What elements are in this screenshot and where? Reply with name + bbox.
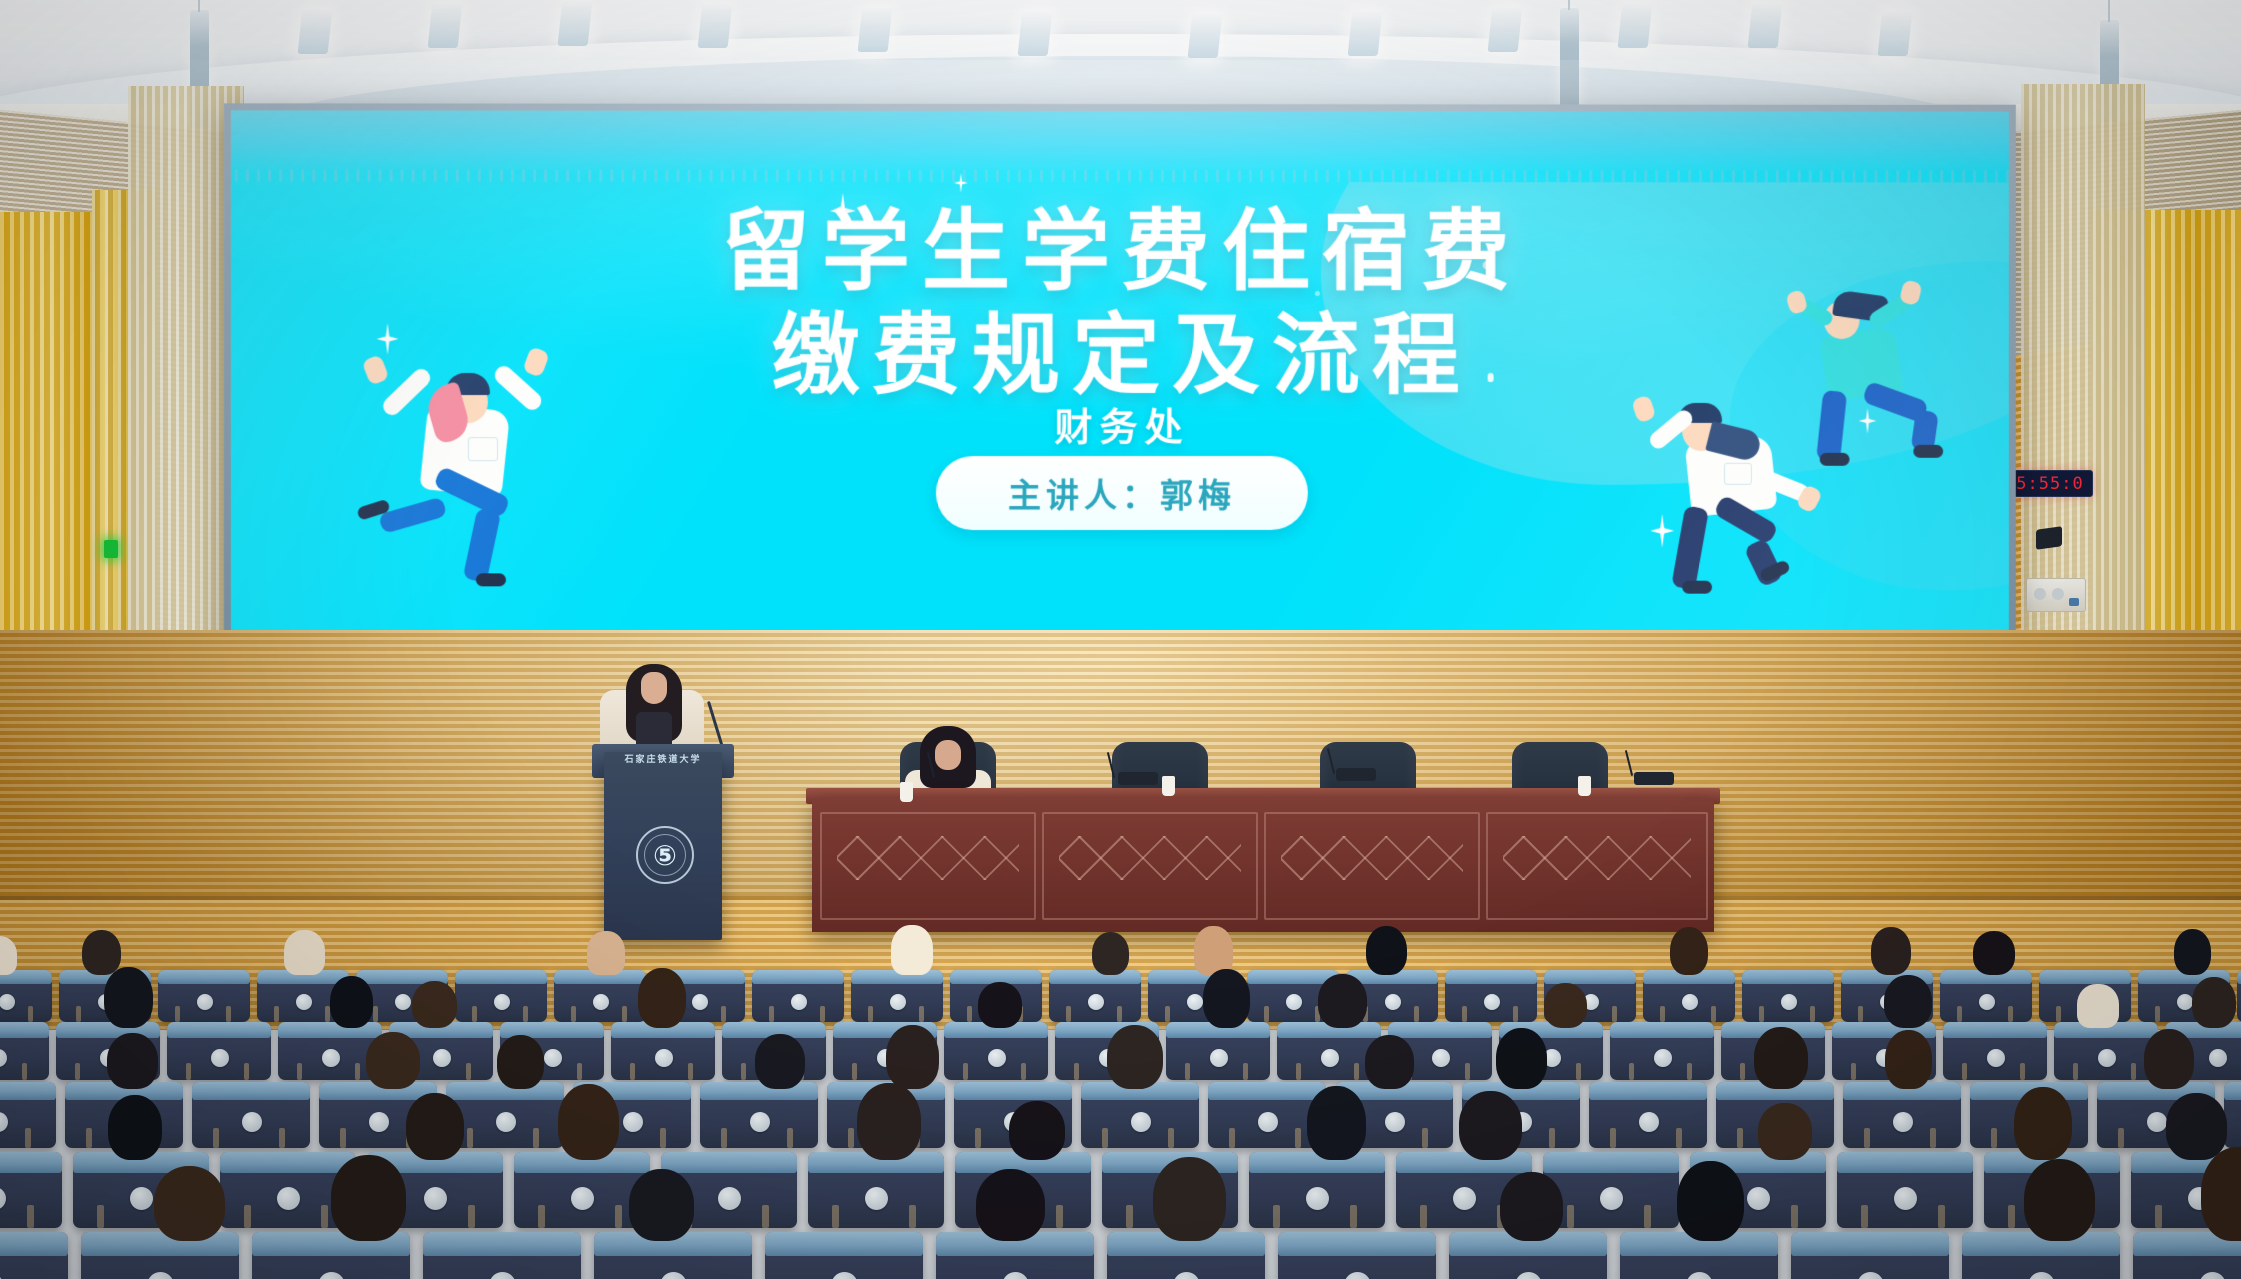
audience-member-head: [1107, 1025, 1163, 1089]
seat-number-medallion: [197, 994, 213, 1010]
audience-member-head: [2077, 984, 2119, 1028]
seat-armrest: [538, 1205, 545, 1228]
seat-armrest: [1273, 1205, 1280, 1228]
seat-headrail: [1837, 1152, 1973, 1173]
seat-number-medallion: [1258, 1112, 1278, 1132]
audience-seat: [0, 1022, 49, 1080]
seat-armrest: [468, 1205, 475, 1228]
audience-seat: [2054, 1022, 2158, 1080]
ceiling-spotlight: [1618, 2, 1653, 48]
seat-number-medallion: [1893, 1112, 1913, 1132]
seat-armrest: [1102, 1128, 1108, 1148]
slide-title: 留学生学费住宿费 缴费规定及流程: [231, 199, 2009, 407]
seat-armrest: [1229, 1128, 1235, 1148]
audience-seat: [1589, 1082, 1707, 1148]
audience-member-head: [1884, 975, 1932, 1028]
audience-member-head: [2166, 1093, 2227, 1160]
seat-armrest: [472, 1006, 477, 1022]
table-panel: [1264, 812, 1480, 920]
audience-member-head: [886, 1025, 939, 1089]
seat-armrest: [630, 1063, 635, 1080]
seat-armrest: [615, 1205, 622, 1228]
seat-armrest: [1350, 1205, 1357, 1228]
water-cup: [1578, 776, 1591, 796]
seat-headrail: [0, 1152, 62, 1173]
audience-seat: [446, 1082, 564, 1148]
audience-seat: [554, 970, 646, 1022]
seat-armrest: [1938, 1205, 1945, 1228]
audience-seat: [765, 1232, 923, 1279]
seat-number-medallion: [890, 994, 906, 1010]
seat-number-medallion: [1639, 1112, 1659, 1132]
audience-member-head: [1754, 1027, 1808, 1089]
seat-number-medallion: [2028, 1272, 2055, 1279]
seat-armrest: [2008, 1205, 2015, 1228]
seat-number-medallion: [1173, 1272, 1200, 1279]
seat-number-medallion: [0, 994, 15, 1010]
audience-member-head: [1009, 1101, 1065, 1160]
seat-headrail: [752, 970, 844, 984]
seat-number-medallion: [2209, 1049, 2227, 1067]
seat-armrest: [97, 1205, 104, 1228]
seat-number-medallion: [1682, 994, 1698, 1010]
seat-armrest: [2155, 1205, 2162, 1228]
seat-number-medallion: [1210, 1049, 1228, 1067]
table-panel: [820, 812, 1036, 920]
ceiling-spotlight: [1878, 10, 1913, 56]
seat-number-medallion: [130, 1187, 153, 1210]
table-panel: [1042, 812, 1258, 920]
seat-number-medallion: [2199, 1272, 2226, 1279]
seat-armrest: [2020, 1063, 2025, 1080]
seat-armrest: [186, 1063, 191, 1080]
seat-armrest: [1737, 1128, 1743, 1148]
ceiling-spotlight: [1488, 6, 1523, 52]
seat-armrest: [1462, 1006, 1467, 1022]
seat-headrail: [954, 1082, 1072, 1100]
seat-armrest: [340, 1128, 346, 1148]
seat-headrail: [2224, 1082, 2241, 1100]
seat-armrest: [2056, 1006, 2061, 1022]
seat-armrest: [1962, 1063, 1967, 1080]
seat-headrail: [192, 1082, 310, 1100]
seat-armrest: [1576, 1063, 1581, 1080]
audience-seat: [1843, 1082, 1961, 1148]
seat-number-medallion: [395, 994, 411, 1010]
seat-armrest: [1549, 1128, 1555, 1148]
seat-armrest: [769, 1006, 774, 1022]
seat-armrest: [1422, 1128, 1428, 1148]
audience-seat: [1249, 1152, 1385, 1228]
seat-armrest: [1243, 1063, 1248, 1080]
seat-number-medallion: [277, 1187, 300, 1210]
audience-member-head: [284, 930, 325, 975]
audience-member-head: [629, 1169, 694, 1241]
seat-number-medallion: [1306, 1187, 1329, 1210]
seat-armrest: [1676, 1128, 1682, 1148]
seat-armrest: [1354, 1063, 1359, 1080]
seat-armrest: [1991, 1128, 1997, 1148]
audience-seat: [1166, 1022, 1270, 1080]
seat-headrail: [0, 1022, 49, 1038]
seat-armrest: [1711, 1006, 1716, 1022]
audience-member-head: [330, 976, 373, 1028]
ceiling-spotlight: [428, 2, 463, 48]
seat-headrail: [167, 1022, 271, 1038]
seat-armrest: [1296, 1063, 1301, 1080]
seat-headrail: [423, 1232, 581, 1256]
audience-member-head: [1092, 932, 1129, 975]
ceiling-spotlight: [558, 0, 593, 46]
water-cup: [1162, 776, 1175, 796]
seat-armrest: [622, 1006, 627, 1022]
seat-number-medallion: [1385, 994, 1401, 1010]
seat-headrail: [0, 1082, 56, 1100]
seat-armrest: [175, 1006, 180, 1022]
seat-armrest: [355, 1063, 360, 1080]
slide-title-line-2: 缴费规定及流程: [231, 303, 2009, 407]
audience-seat: [1962, 1232, 2120, 1279]
seat-number-medallion: [0, 1049, 7, 1067]
audience-member-head: [108, 1095, 162, 1160]
seat-headrail: [1543, 1152, 1679, 1173]
ceiling-spotlight: [1188, 12, 1223, 58]
wall-clock-right: 5:55:0: [2007, 470, 2093, 497]
seat-number-medallion: [211, 1049, 229, 1067]
seat-armrest: [1660, 1006, 1665, 1022]
seat-number-medallion: [1600, 1187, 1623, 1210]
university-emblem-icon: ⑤: [636, 826, 694, 884]
audience-seat: [944, 1022, 1048, 1080]
seat-number-medallion: [593, 994, 609, 1010]
seat-number-medallion: [242, 1112, 262, 1132]
seat-armrest: [967, 1006, 972, 1022]
ceiling-spotlight: [1018, 10, 1053, 56]
seat-armrest: [1117, 1006, 1122, 1022]
seat-headrail: [1791, 1232, 1949, 1256]
seat-headrail: [1589, 1082, 1707, 1100]
table-microphone-base: [1336, 768, 1376, 781]
head-table: [812, 798, 1714, 932]
seat-number-medallion: [1002, 1272, 1029, 1279]
seat-number-medallion: [1857, 1272, 1884, 1279]
audience-seat: [752, 970, 844, 1022]
table-microphone-base: [1118, 772, 1158, 785]
seat-armrest: [741, 1063, 746, 1080]
audience-member-head: [1885, 1030, 1932, 1089]
seat-armrest: [274, 1006, 279, 1022]
seat-armrest: [1629, 1063, 1634, 1080]
podium-nameplate: 石家庄铁道大学: [600, 752, 726, 765]
audience-member-head: [82, 930, 121, 975]
seat-armrest: [1851, 1063, 1856, 1080]
auditorium-scene: 15:55:07 5:55:0: [0, 0, 2241, 1279]
seat-headrail: [1943, 1022, 2047, 1038]
seat-armrest: [1295, 1128, 1301, 1148]
seat-armrest: [213, 1128, 219, 1148]
seat-armrest: [820, 1006, 825, 1022]
seat-headrail: [2237, 970, 2241, 984]
seat-armrest: [25, 1128, 31, 1148]
audience-seat: [611, 1022, 715, 1080]
seat-armrest: [523, 1006, 528, 1022]
seat-headrail: [1278, 1232, 1436, 1256]
water-cup: [900, 782, 913, 802]
seat-number-medallion: [1987, 1049, 2005, 1067]
seat-armrest: [244, 1063, 249, 1080]
seat-number-medallion: [1453, 1187, 1476, 1210]
seat-armrest: [466, 1063, 471, 1080]
seat-armrest: [1056, 1205, 1063, 1228]
seat-number-medallion: [1781, 994, 1797, 1010]
ceiling-spotlight: [858, 6, 893, 52]
seat-armrest: [22, 1063, 27, 1080]
seat-number-medallion: [1321, 1049, 1339, 1067]
seat-armrest: [721, 1006, 726, 1022]
seat-number-medallion: [831, 1272, 858, 1279]
seat-armrest: [2118, 1128, 2124, 1148]
seat-armrest: [373, 1006, 378, 1022]
seat-headrail: [0, 1232, 68, 1256]
seat-number-medallion: [623, 1112, 643, 1132]
audience-seat: [851, 970, 943, 1022]
audience-member-head: [497, 1035, 544, 1089]
wall-control-panel-right: [2026, 578, 2086, 612]
seat-armrest: [1066, 1006, 1071, 1022]
audience-seat: [808, 1152, 944, 1228]
seat-number-medallion: [692, 994, 708, 1010]
audience-member-head: [331, 1155, 406, 1241]
seat-armrest: [963, 1063, 968, 1080]
seat-armrest: [919, 1006, 924, 1022]
audience-member-head: [1670, 927, 1708, 975]
seat-number-medallion: [1894, 1187, 1917, 1210]
seat-number-medallion: [318, 1272, 345, 1279]
seat-number-medallion: [655, 1049, 673, 1067]
seat-armrest: [975, 1128, 981, 1148]
seat-armrest: [2008, 1006, 2013, 1022]
seat-number-medallion: [791, 994, 807, 1010]
seat-armrest: [467, 1128, 473, 1148]
seat-armrest: [762, 1205, 769, 1228]
slide-title-line-1: 留学生学费住宿费: [231, 199, 2009, 303]
audience-seat: [0, 1082, 56, 1148]
audience-member-head: [154, 1166, 225, 1241]
audience-seat: [81, 1232, 239, 1279]
seat-number-medallion: [1088, 994, 1104, 1010]
audience-member-head: [104, 967, 153, 1028]
audience-member-head: [412, 981, 457, 1028]
audience-seat: [1049, 970, 1141, 1022]
audience-member-head: [976, 1169, 1045, 1241]
seat-number-medallion: [433, 1049, 451, 1067]
seat-armrest: [852, 1063, 857, 1080]
seat-headrail: [765, 1232, 923, 1256]
seat-number-medallion: [544, 1049, 562, 1067]
audience-seat: [1940, 970, 2032, 1022]
audience-seat: [252, 1232, 410, 1279]
seat-armrest: [571, 1006, 576, 1022]
seat-armrest: [1513, 1006, 1518, 1022]
seat-number-medallion: [1286, 994, 1302, 1010]
table-microphone-base: [1634, 772, 1674, 785]
seat-armrest: [1810, 1006, 1815, 1022]
audience-member-head: [1459, 1091, 1522, 1160]
seat-number-medallion: [424, 1187, 447, 1210]
seat-number-medallion: [369, 1112, 389, 1132]
seat-armrest: [868, 1006, 873, 1022]
seat-number-medallion: [489, 1272, 516, 1279]
seat-armrest: [832, 1205, 839, 1228]
seat-armrest: [1864, 1128, 1870, 1148]
audience-seat: [1543, 1152, 1679, 1228]
audience-seat: [455, 970, 547, 1022]
seat-number-medallion: [2177, 994, 2193, 1010]
audience-seat: [700, 1082, 818, 1148]
seat-armrest: [2155, 1006, 2160, 1022]
seat-number-medallion: [660, 1272, 687, 1279]
audience-member-head: [1677, 1161, 1744, 1241]
audience-seat: [1643, 970, 1735, 1022]
seat-number-medallion: [1432, 1049, 1450, 1067]
audience-member-head: [2024, 1159, 2095, 1241]
seat-headrail: [81, 1232, 239, 1256]
seat-armrest: [1165, 1006, 1170, 1022]
seat-armrest: [1930, 1128, 1936, 1148]
ceiling-spotlight: [298, 8, 333, 54]
seat-headrail: [1388, 1022, 1492, 1038]
audience-seat: [0, 1232, 68, 1279]
audience-seat: [0, 970, 52, 1022]
seat-number-medallion: [147, 1272, 174, 1279]
audience-member-head: [2144, 1029, 2194, 1089]
audience-member-head: [1973, 931, 2015, 975]
seat-armrest: [1264, 1006, 1269, 1022]
seat-number-medallion: [865, 1187, 888, 1210]
seat-headrail: [2039, 970, 2131, 984]
seat-armrest: [660, 1128, 666, 1148]
seated-person-face: [935, 740, 961, 770]
seat-armrest: [1957, 1006, 1962, 1022]
seat-armrest: [1612, 1006, 1617, 1022]
seat-headrail: [1610, 1022, 1714, 1038]
seat-armrest: [688, 1063, 693, 1080]
seat-headrail: [1396, 1152, 1532, 1173]
audience-member-head: [1758, 1103, 1812, 1160]
slide-top-texture: [231, 110, 2009, 177]
presentation-slide: 留学生学费住宿费 缴费规定及流程 财务处 主讲人：郭梅: [231, 110, 2009, 642]
audience-member-head: [891, 925, 933, 975]
seat-number-medallion: [1131, 1112, 1151, 1132]
audience-member-head: [857, 1083, 921, 1160]
seat-armrest: [27, 1205, 34, 1228]
seat-armrest: [909, 1205, 916, 1228]
audience-member-head: [1318, 974, 1367, 1028]
seat-number-medallion: [1484, 994, 1500, 1010]
seat-armrest: [28, 1006, 33, 1022]
seat-armrest: [577, 1063, 582, 1080]
seat-headrail: [158, 970, 250, 984]
seat-armrest: [297, 1063, 302, 1080]
seat-number-medallion: [2147, 1112, 2167, 1132]
seat-number-medallion: [0, 1187, 6, 1210]
seat-armrest: [1420, 1205, 1427, 1228]
audience-member-head: [2192, 977, 2236, 1028]
seat-number-medallion: [1654, 1049, 1672, 1067]
wall-speaker-mount: [2036, 526, 2062, 550]
seat-number-medallion: [1385, 1112, 1405, 1132]
audience-seat: [1791, 1232, 1949, 1279]
audience-member-head: [1365, 1035, 1414, 1089]
seat-number-medallion: [571, 1187, 594, 1210]
slide-subtitle: 财务处: [231, 396, 2009, 451]
seat-headrail: [1544, 970, 1636, 984]
seat-armrest: [75, 1063, 80, 1080]
audience-member-head: [1194, 926, 1233, 975]
audience-seat: [1943, 1022, 2047, 1080]
audience-member-head: [587, 931, 625, 975]
audience-member-head: [406, 1093, 464, 1160]
seat-headrail: [700, 1082, 818, 1100]
seat-armrest: [226, 1006, 231, 1022]
ceiling-spotlight: [698, 2, 733, 48]
audience-seat: [1445, 970, 1537, 1022]
audience-member-head: [1871, 927, 1911, 975]
seat-number-medallion: [718, 1187, 741, 1210]
audience-member-head: [1366, 926, 1407, 975]
audience-member-head: [978, 982, 1022, 1028]
audience-member-head: [1203, 969, 1250, 1028]
seat-number-medallion: [1979, 994, 1995, 1010]
ceiling-spotlight: [1348, 10, 1383, 56]
audience-member-head: [2014, 1087, 2072, 1160]
audience-member-head: [638, 968, 686, 1028]
seat-armrest: [1465, 1063, 1470, 1080]
seat-number-medallion: [494, 994, 510, 1010]
seat-number-medallion: [496, 1112, 516, 1132]
seat-armrest: [533, 1128, 539, 1148]
seat-number-medallion: [2098, 1049, 2116, 1067]
exit-sign-icon: [104, 540, 118, 558]
seat-armrest: [1861, 1205, 1868, 1228]
seat-armrest: [76, 1006, 81, 1022]
seat-number-medallion: [1747, 1187, 1770, 1210]
seat-armrest: [1567, 1205, 1574, 1228]
seat-armrest: [1074, 1063, 1079, 1080]
seat-armrest: [1858, 1006, 1863, 1022]
seat-armrest: [2131, 1063, 2136, 1080]
seat-number-medallion: [1344, 1272, 1371, 1279]
podium-speaker-face: [641, 672, 667, 704]
audience-seat: [1081, 1082, 1199, 1148]
seat-headrail: [661, 1152, 797, 1173]
seat-headrail: [278, 1022, 382, 1038]
audience-member-head: [558, 1084, 619, 1160]
audience-seat: [1837, 1152, 1973, 1228]
seat-armrest: [1740, 1063, 1745, 1080]
ceiling-spotlight: [1748, 2, 1783, 48]
seat-armrest: [1644, 1205, 1651, 1228]
seat-armrest: [1414, 1006, 1419, 1022]
seat-armrest: [2073, 1063, 2078, 1080]
seat-armrest: [1168, 1128, 1174, 1148]
seat-armrest: [279, 1128, 285, 1148]
seat-armrest: [1610, 1128, 1616, 1148]
audience-member-head: [1544, 983, 1587, 1028]
audience-seat: [2237, 970, 2241, 1022]
seat-headrail: [1742, 970, 1834, 984]
audience-member-head: [1500, 1172, 1563, 1241]
